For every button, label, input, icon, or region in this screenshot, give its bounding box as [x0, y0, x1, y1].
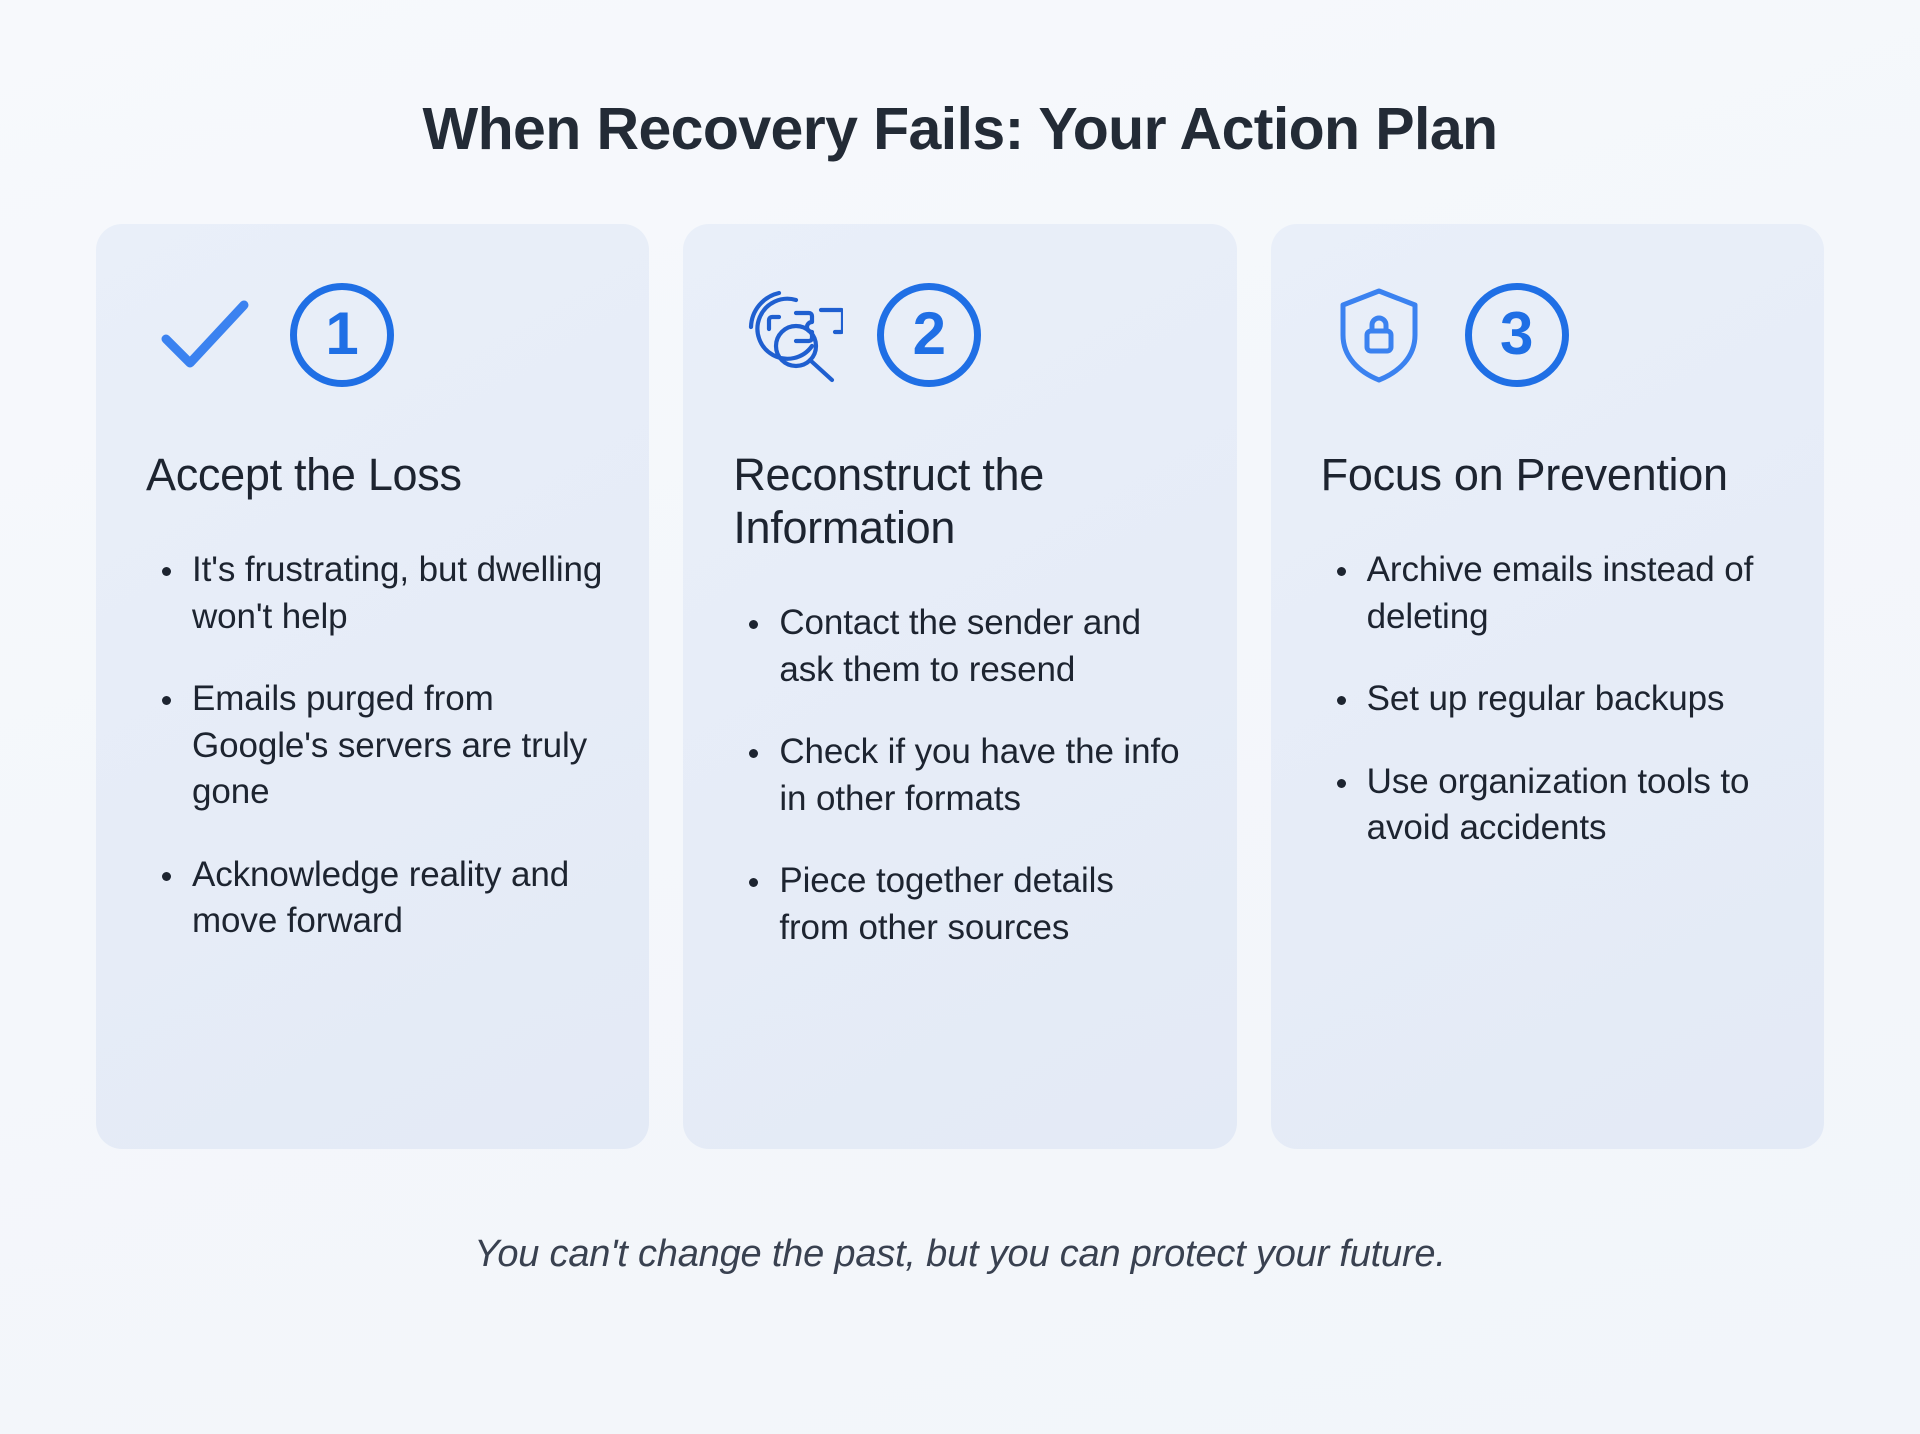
card-bullet-list: Contact the sender and ask them to resen…: [727, 600, 1192, 951]
card-header: 2: [727, 276, 1192, 394]
step-number: 1: [325, 304, 358, 364]
card-bullet-list: It's frustrating, but dwelling won't hel…: [140, 547, 605, 945]
puzzle-magnifier-icon: [739, 283, 843, 387]
list-item: Emails purged from Google's servers are …: [154, 676, 605, 816]
card-title: Focus on Prevention: [1315, 448, 1780, 501]
infographic-page: When Recovery Fails: Your Action Plan 1 …: [0, 0, 1920, 1434]
card-grid: 1 Accept the Loss It's frustrating, but …: [0, 224, 1920, 1149]
list-item: Set up regular backups: [1329, 676, 1780, 723]
checkmark-icon: [152, 283, 256, 387]
list-item: Check if you have the info in other form…: [741, 729, 1192, 822]
step-number: 2: [913, 304, 946, 364]
footer-quote: You can't change the past, but you can p…: [0, 1149, 1920, 1276]
step-number: 3: [1500, 304, 1533, 364]
card-title: Reconstruct the Information: [727, 448, 1192, 554]
list-item: It's frustrating, but dwelling won't hel…: [154, 547, 605, 640]
shield-lock-icon: [1327, 283, 1431, 387]
card-header: 3: [1315, 276, 1780, 394]
list-item: Use organization tools to avoid accident…: [1329, 759, 1780, 852]
step-number-badge: 2: [877, 283, 981, 387]
list-item: Archive emails instead of deleting: [1329, 547, 1780, 640]
card-reconstruct-the-information: 2 Reconstruct the Information Contact th…: [683, 224, 1236, 1149]
page-title: When Recovery Fails: Your Action Plan: [0, 0, 1920, 162]
step-number-badge: 1: [290, 283, 394, 387]
step-number-badge: 3: [1465, 283, 1569, 387]
list-item: Contact the sender and ask them to resen…: [741, 600, 1192, 693]
card-accept-the-loss: 1 Accept the Loss It's frustrating, but …: [96, 224, 649, 1149]
list-item: Acknowledge reality and move forward: [154, 852, 605, 945]
list-item: Piece together details from other source…: [741, 858, 1192, 951]
card-header: 1: [140, 276, 605, 394]
card-bullet-list: Archive emails instead of deleting Set u…: [1315, 547, 1780, 852]
card-title: Accept the Loss: [140, 448, 605, 501]
card-focus-on-prevention: 3 Focus on Prevention Archive emails ins…: [1271, 224, 1824, 1149]
